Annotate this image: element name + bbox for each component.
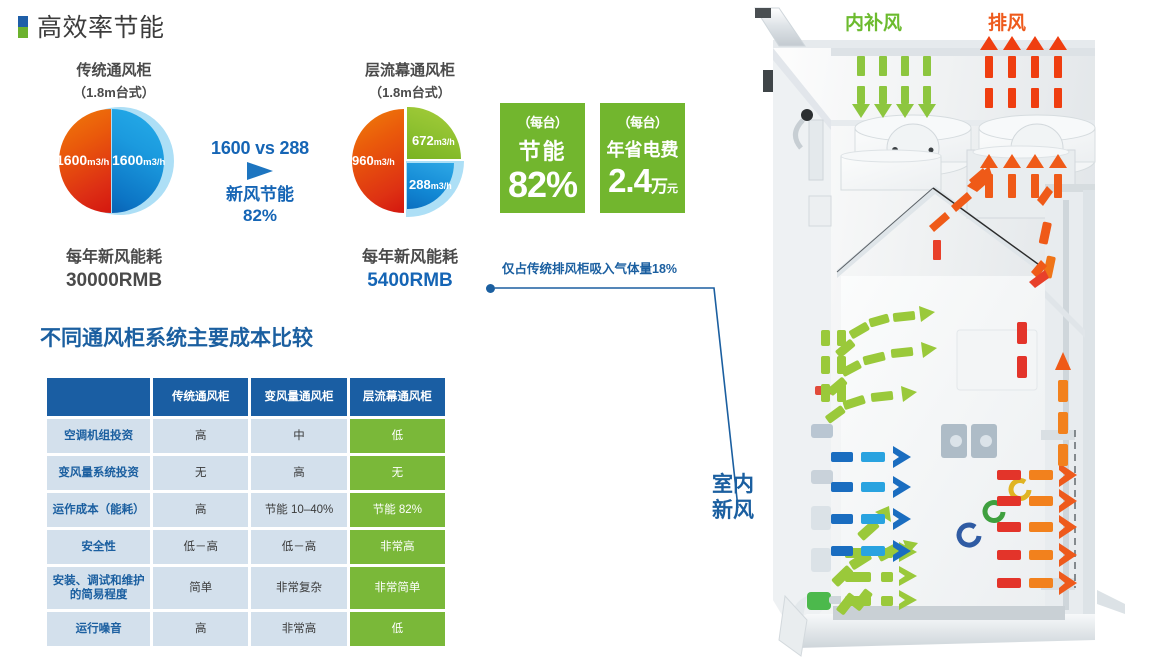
pie-label-makeup-air: 1600m3/h bbox=[112, 152, 165, 168]
page-title: 高效率节能 bbox=[37, 8, 165, 44]
table-row: 运行噪音 高 非常高 低 bbox=[47, 612, 445, 646]
table-header-blank bbox=[47, 378, 150, 416]
table-header-laminar: 层流幕通风柜 bbox=[350, 378, 445, 416]
table-header-traditional: 传统通风柜 bbox=[153, 378, 248, 416]
foot-label-traditional: 每年新风能耗 bbox=[24, 248, 204, 269]
row-cell: 节能 10–40% bbox=[251, 493, 346, 527]
row-cell-highlight: 非常高 bbox=[350, 530, 445, 564]
row-cell: 非常高 bbox=[251, 612, 346, 646]
row-label: 运作成本（能耗） bbox=[47, 493, 150, 527]
table-row: 安装、调试和维护的简易程度 简单 非常复杂 非常简单 bbox=[47, 567, 445, 609]
section-title: 不同通风柜系统主要成本比较 bbox=[40, 322, 313, 352]
brand-marker-icon bbox=[18, 16, 28, 38]
row-cell-highlight: 节能 82% bbox=[350, 493, 445, 527]
fume-hood-illustration bbox=[745, 0, 1149, 660]
table-row: 变风量系统投资 无 高 无 bbox=[47, 456, 445, 490]
row-label: 安全性 bbox=[47, 530, 150, 564]
footer-traditional: 每年新风能耗 30000RMB bbox=[24, 248, 204, 293]
foot-value-laminar: 5400RMB bbox=[320, 269, 500, 293]
indoor-line-1: 室内 bbox=[712, 472, 754, 498]
row-cell-highlight: 无 bbox=[350, 456, 445, 490]
row-cell-highlight: 非常简单 bbox=[350, 567, 445, 609]
arrow-right-icon bbox=[247, 162, 273, 180]
row-cell: 非常复杂 bbox=[251, 567, 346, 609]
chart-title-traditional: 传统通风柜 bbox=[24, 62, 204, 81]
row-label: 运行噪音 bbox=[47, 612, 150, 646]
saving-percent: 82% bbox=[196, 205, 324, 226]
pie-label-internal-makeup-air: 672m3/h bbox=[412, 133, 455, 148]
comparison-ratio: 1600 vs 288 bbox=[196, 138, 324, 159]
row-cell: 高 bbox=[251, 456, 346, 490]
chart-traditional-hood: 传统通风柜 （1.8m台式） 1600m3/h 1600m3/h bbox=[24, 62, 204, 217]
badge-value: 2.4万元 bbox=[600, 165, 685, 196]
badge-value: 82% bbox=[500, 168, 585, 202]
diagram-label-makeup-air: 内补风 bbox=[845, 8, 902, 35]
badge-energy-saving: （每台） 节能 82% bbox=[500, 103, 585, 213]
row-cell: 高 bbox=[153, 419, 248, 453]
row-cell: 无 bbox=[153, 456, 248, 490]
pie-label-exhaust: 1600m3/h bbox=[56, 152, 109, 168]
row-cell: 高 bbox=[153, 612, 248, 646]
row-cell: 低－高 bbox=[251, 530, 346, 564]
footer-laminar: 每年新风能耗 5400RMB bbox=[320, 248, 500, 293]
badge-midtext: 节能 bbox=[500, 134, 585, 166]
table-row: 安全性 低－高 低－高 非常高 bbox=[47, 530, 445, 564]
row-cell-highlight: 低 bbox=[350, 419, 445, 453]
row-cell: 低－高 bbox=[153, 530, 248, 564]
pie-chart-laminar: 960m3/h 672m3/h 288m3/h bbox=[350, 107, 470, 219]
chart-subtitle-traditional: （1.8m台式） bbox=[24, 82, 204, 101]
poster-root: 高效率节能 传统通风柜 （1.8m台式） 1600m3/h 1600m3/h 每… bbox=[0, 0, 1149, 660]
badge-annual-savings: （每台） 年省电费 2.4万元 bbox=[600, 103, 685, 213]
chart-title-laminar: 层流幕通风柜 bbox=[320, 62, 500, 81]
callout-leader-line bbox=[486, 258, 746, 528]
foot-label-laminar: 每年新风能耗 bbox=[320, 248, 500, 269]
table-header-vav: 变风量通风柜 bbox=[251, 378, 346, 416]
saving-label: 新风节能 bbox=[196, 184, 324, 205]
row-label: 安装、调试和维护的简易程度 bbox=[47, 567, 150, 609]
row-label: 空调机组投资 bbox=[47, 419, 150, 453]
badge-midtext: 年省电费 bbox=[600, 136, 685, 162]
row-label: 变风量系统投资 bbox=[47, 456, 150, 490]
diagram-label-exhaust: 排风 bbox=[988, 8, 1026, 35]
row-cell: 高 bbox=[153, 493, 248, 527]
table-row: 运作成本（能耗） 高 节能 10–40% 节能 82% bbox=[47, 493, 445, 527]
badge-caption: （每台） bbox=[500, 112, 585, 131]
chart-laminar-hood: 层流幕通风柜 （1.8m台式） 960m3/h 672m3/h 288m3/h bbox=[320, 62, 500, 219]
pie-label-exhaust: 960m3/h bbox=[352, 153, 395, 168]
row-cell: 简单 bbox=[153, 567, 248, 609]
row-cell-highlight: 低 bbox=[350, 612, 445, 646]
comparison-summary: 1600 vs 288 新风节能 82% bbox=[196, 138, 324, 227]
row-cell: 中 bbox=[251, 419, 346, 453]
chart-subtitle-laminar: （1.8m台式） bbox=[320, 82, 500, 101]
table-row: 空调机组投资 高 中 低 bbox=[47, 419, 445, 453]
badge-caption: （每台） bbox=[600, 112, 685, 131]
table-header-row: 传统通风柜 变风量通风柜 层流幕通风柜 bbox=[47, 378, 445, 416]
pie-label-fresh-air: 288m3/h bbox=[409, 177, 452, 192]
fume-hood-diagram bbox=[745, 0, 1149, 660]
diagram-label-indoor-fresh-air: 室内 新风 bbox=[712, 472, 754, 525]
pie-chart-traditional: 1600m3/h 1600m3/h bbox=[50, 107, 178, 217]
cost-comparison-table: 传统通风柜 变风量通风柜 层流幕通风柜 空调机组投资 高 中 低 变风量系统投资… bbox=[44, 375, 448, 649]
foot-value-traditional: 30000RMB bbox=[24, 269, 204, 293]
page-header: 高效率节能 bbox=[18, 8, 165, 44]
indoor-line-2: 新风 bbox=[712, 498, 754, 524]
